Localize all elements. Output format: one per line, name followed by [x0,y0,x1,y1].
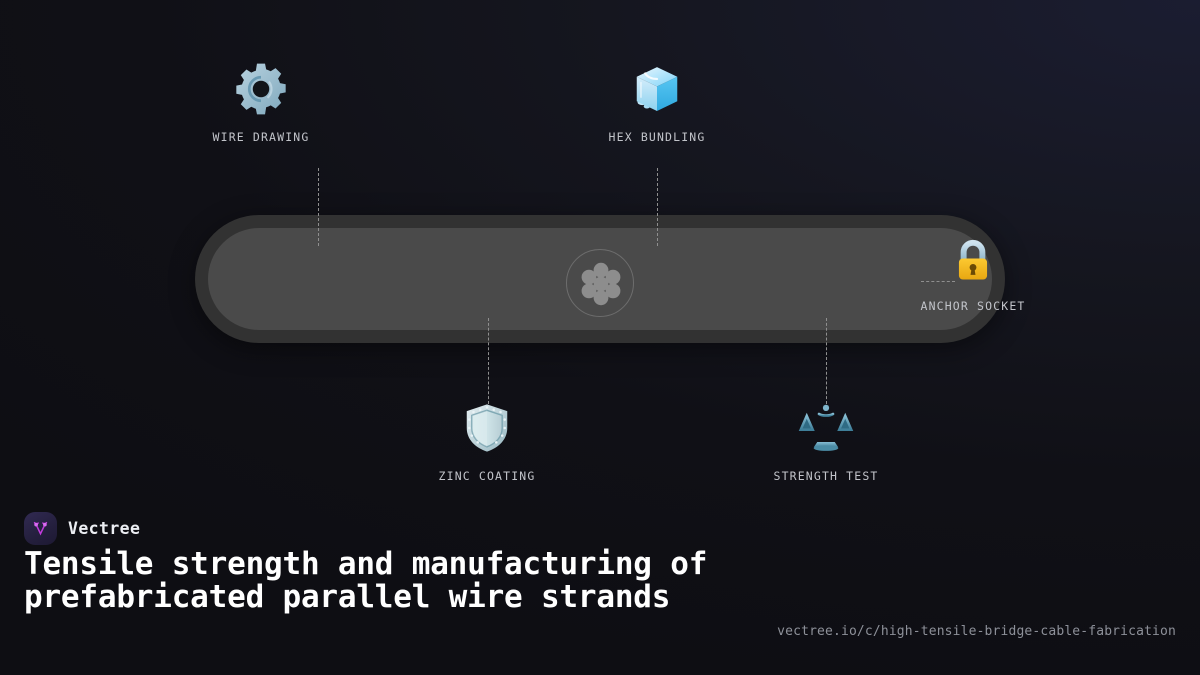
gear-icon [232,60,290,118]
page-title: Tensile strength and manufacturing of pr… [24,548,714,613]
scales-icon [797,399,855,457]
node-hex-bundling[interactable]: HEX BUNDLING [547,60,767,144]
ice-cube-icon [628,60,686,118]
connector-wire-drawing [318,168,319,246]
node-label: HEX BUNDLING [609,130,706,144]
connector-strength-test [826,318,827,404]
node-label: STRENGTH TEST [774,469,879,483]
vectree-logo-icon [24,512,57,545]
node-strength-test[interactable]: STRENGTH TEST [716,399,936,483]
lock-icon [944,231,1002,289]
connector-hex-bundling [657,168,658,246]
connector-zinc-coating [488,318,489,404]
node-label: WIRE DRAWING [213,130,310,144]
node-label: ZINC COATING [439,469,536,483]
node-wire-drawing[interactable]: WIRE DRAWING [151,60,371,144]
node-zinc-coating[interactable]: ZINC COATING [377,399,597,483]
shield-icon [458,399,516,457]
source-url: vectree.io/c/high-tensile-bridge-cable-f… [777,624,1176,639]
wire-strand-emblem [566,249,634,317]
brand-name: Vectree [68,519,140,538]
seven-wire-strand-icon [567,250,635,318]
infographic-canvas: WIRE DRAWING [0,0,1200,675]
node-label: ANCHOR SOCKET [921,299,1026,313]
brand[interactable]: Vectree [24,512,140,545]
node-anchor-socket[interactable]: ANCHOR SOCKET [863,231,1083,313]
